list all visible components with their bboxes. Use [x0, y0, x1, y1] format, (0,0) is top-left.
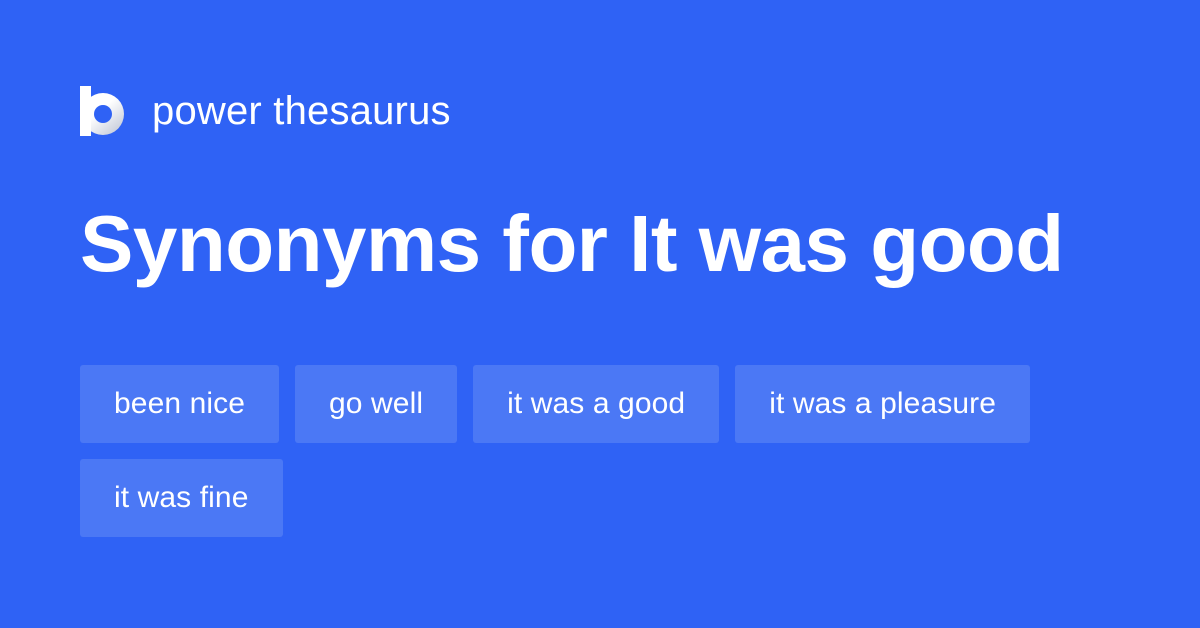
brand-name: power thesaurus — [152, 91, 451, 131]
power-thesaurus-b-logo-icon — [80, 86, 124, 136]
synonym-chip[interactable]: been nice — [80, 365, 279, 443]
synonym-chip[interactable]: it was a good — [473, 365, 719, 443]
synonym-chip-list: been nice go well it was a good it was a… — [80, 365, 1140, 537]
synonym-chip[interactable]: go well — [295, 365, 457, 443]
brand-header[interactable]: power thesaurus — [80, 82, 451, 140]
page-title: Synonyms for It was good — [80, 196, 1120, 292]
synonym-chip[interactable]: it was fine — [80, 459, 283, 537]
og-card: power thesaurus Synonyms for It was good… — [0, 0, 1200, 628]
synonym-chip[interactable]: it was a pleasure — [735, 365, 1030, 443]
